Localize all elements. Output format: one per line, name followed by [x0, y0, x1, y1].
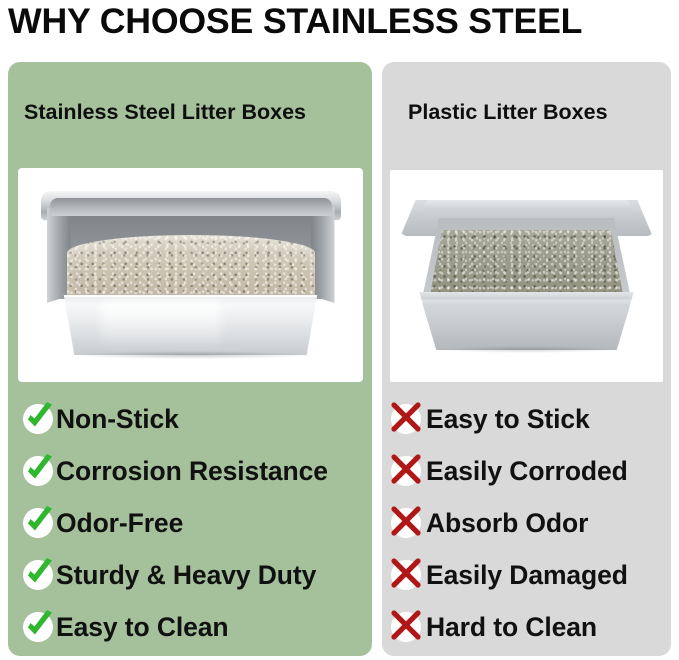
list-item: Easily Corroded — [382, 445, 671, 497]
list-item-label: Easy to Stick — [426, 404, 590, 435]
list-item: Hard to Clean — [382, 601, 671, 653]
feature-list-plastic: Easy to Stick Easily Corroded — [382, 393, 671, 653]
check-icon — [22, 611, 54, 643]
comparison-panel-stainless-steel: Stainless Steel Litter Boxes Non-Stick — [8, 62, 372, 656]
check-icon — [22, 455, 54, 487]
list-item: Easy to Stick — [382, 393, 671, 445]
list-item: Sturdy & Heavy Duty — [8, 549, 372, 601]
list-item-label: Non-Stick — [56, 404, 179, 435]
panel-heading-plastic: Plastic Litter Boxes — [408, 100, 608, 125]
plastic-box-shadow — [435, 346, 619, 353]
stainless-box-shadow — [69, 351, 313, 359]
plastic-box-illustration — [401, 196, 653, 356]
stainless-box-illustration — [41, 191, 341, 359]
list-item-label: Hard to Clean — [426, 612, 597, 643]
stainless-box-litter-fill — [67, 235, 315, 301]
list-item: Non-Stick — [8, 393, 372, 445]
list-item-label: Easy to Clean — [56, 612, 229, 643]
cross-icon — [390, 611, 422, 643]
panel-heading-stainless-steel: Stainless Steel Litter Boxes — [24, 100, 306, 125]
stainless-box-rim-inner — [50, 198, 332, 216]
list-item: Odor-Free — [8, 497, 372, 549]
cross-icon — [390, 455, 422, 487]
cross-icon — [390, 403, 422, 435]
list-item-label: Sturdy & Heavy Duty — [56, 560, 316, 591]
stainless-steel-litter-box-photo — [18, 168, 363, 382]
list-item: Corrosion Resistance — [8, 445, 372, 497]
plastic-box-litter-fill — [431, 230, 623, 292]
plastic-box-front-panel — [417, 306, 637, 350]
list-item-label: Absorb Odor — [426, 508, 588, 539]
list-item-label: Easily Damaged — [426, 560, 628, 591]
list-item: Absorb Odor — [382, 497, 671, 549]
feature-list-stainless-steel: Non-Stick Corrosion Resistance Odor-Free — [8, 393, 372, 653]
plastic-box-ribbed-band — [413, 292, 641, 308]
comparison-panel-plastic: Plastic Litter Boxes E — [382, 62, 671, 656]
check-icon — [22, 559, 54, 591]
list-item: Easy to Clean — [8, 601, 372, 653]
check-icon — [22, 507, 54, 539]
plastic-box-rim-top-edge — [423, 200, 631, 209]
check-icon — [22, 403, 54, 435]
stainless-box-reflection — [101, 301, 221, 349]
page-title: WHY CHOOSE STAINLESS STEEL — [8, 0, 679, 44]
plastic-litter-box-photo — [390, 170, 663, 382]
list-item-label: Corrosion Resistance — [56, 456, 328, 487]
cross-icon — [390, 507, 422, 539]
list-item-label: Odor-Free — [56, 508, 183, 539]
cross-icon — [390, 559, 422, 591]
list-item: Easily Damaged — [382, 549, 671, 601]
list-item-label: Easily Corroded — [426, 456, 628, 487]
